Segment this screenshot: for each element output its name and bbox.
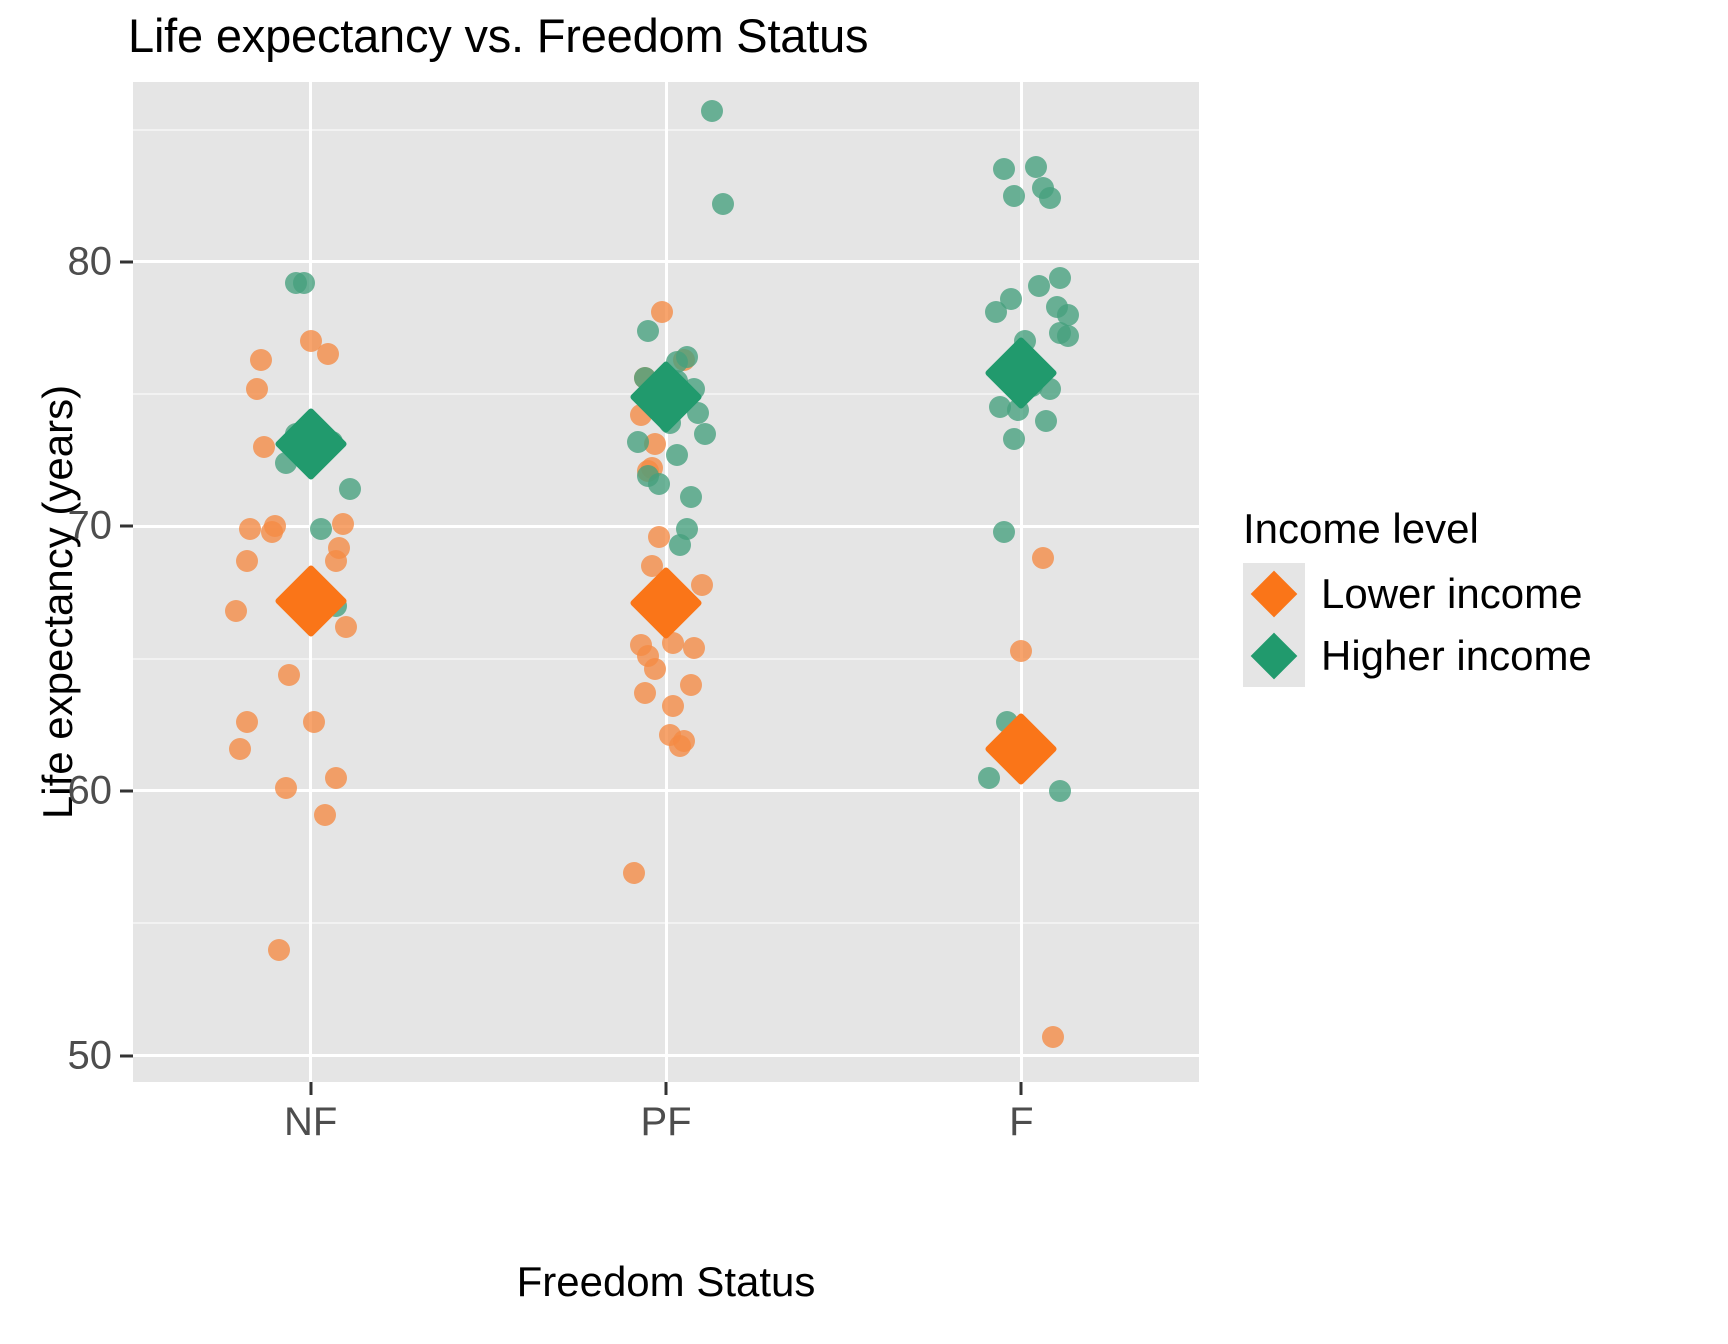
legend-item-label: Higher income [1321, 632, 1592, 680]
data-point [637, 320, 659, 342]
data-point [683, 637, 705, 659]
data-point [1028, 275, 1050, 297]
page-title: Life expectancy vs. Freedom Status [128, 8, 868, 63]
legend-swatch [1243, 563, 1305, 625]
y-axis-tick-mark [120, 525, 133, 528]
y-axis-tick-label: 80 [68, 239, 113, 284]
legend-item-label: Lower income [1321, 570, 1582, 618]
data-point [701, 100, 723, 122]
legend-item[interactable]: Lower income [1243, 563, 1592, 625]
legend-items: Lower incomeHigher income [1243, 563, 1592, 687]
gridline-vertical [1020, 82, 1023, 1082]
data-point [648, 526, 670, 548]
data-point [239, 518, 261, 540]
data-point [637, 465, 659, 487]
x-axis-title: Freedom Status [133, 1258, 1199, 1306]
data-point [250, 349, 272, 371]
data-point [1035, 410, 1057, 432]
data-point [1003, 185, 1025, 207]
data-point [1042, 1026, 1064, 1048]
data-point [246, 378, 268, 400]
data-point [317, 343, 339, 365]
data-point [666, 444, 688, 466]
y-axis-tick-label: 50 [68, 1033, 113, 1078]
data-point [293, 272, 315, 294]
data-point [225, 600, 247, 622]
data-point [627, 431, 649, 453]
data-point [236, 550, 258, 572]
data-point [680, 486, 702, 508]
data-point [1010, 640, 1032, 662]
data-point [680, 674, 702, 696]
data-point [303, 711, 325, 733]
data-point [1049, 267, 1071, 289]
data-point [1025, 156, 1047, 178]
y-axis-tick-mark [120, 1054, 133, 1057]
data-point [332, 513, 354, 535]
data-point [1032, 547, 1054, 569]
x-axis-tick-label: PF [640, 1100, 691, 1145]
data-point [325, 550, 347, 572]
y-axis-tick-mark [120, 789, 133, 792]
chart-figure: Life expectancy vs. Freedom Status Life … [0, 0, 1728, 1344]
data-point [325, 767, 347, 789]
legend-swatch [1243, 625, 1305, 687]
data-point [253, 436, 275, 458]
data-point [1049, 780, 1071, 802]
x-axis-tick-mark [309, 1082, 312, 1095]
data-point [268, 939, 290, 961]
data-point [662, 695, 684, 717]
data-point [651, 301, 673, 323]
data-point [1057, 325, 1079, 347]
data-point [278, 664, 300, 686]
data-point [335, 616, 357, 638]
legend-title: Income level [1243, 505, 1592, 553]
data-point [673, 730, 695, 752]
data-point [644, 658, 666, 680]
y-axis-title: Life expectancy (years) [34, 252, 82, 952]
data-point [236, 711, 258, 733]
y-axis-tick-mark [120, 260, 133, 263]
data-point [978, 767, 1000, 789]
data-point [264, 515, 286, 537]
diamond-icon [1251, 633, 1298, 680]
data-point [229, 738, 251, 760]
x-axis-tick-mark [665, 1082, 668, 1095]
data-point [310, 518, 332, 540]
x-axis-tick-label: F [1009, 1100, 1033, 1145]
legend: Income level Lower incomeHigher income [1243, 505, 1592, 687]
diamond-icon [1251, 571, 1298, 618]
data-point [691, 574, 713, 596]
data-point [1000, 288, 1022, 310]
data-point [339, 478, 361, 500]
plot-panel [133, 82, 1199, 1082]
data-point [712, 193, 734, 215]
data-point [676, 518, 698, 540]
data-point [314, 804, 336, 826]
y-axis-tick-label: 70 [68, 504, 113, 549]
legend-item[interactable]: Higher income [1243, 625, 1592, 687]
data-point [623, 862, 645, 884]
data-point [1003, 428, 1025, 450]
data-point [993, 521, 1015, 543]
data-point [676, 346, 698, 368]
x-axis-tick-label: NF [284, 1100, 337, 1145]
data-point [993, 158, 1015, 180]
data-point [275, 777, 297, 799]
x-axis-tick-mark [1020, 1082, 1023, 1095]
y-axis-tick-label: 60 [68, 768, 113, 813]
data-point [694, 423, 716, 445]
data-point [634, 682, 656, 704]
data-point [1039, 187, 1061, 209]
